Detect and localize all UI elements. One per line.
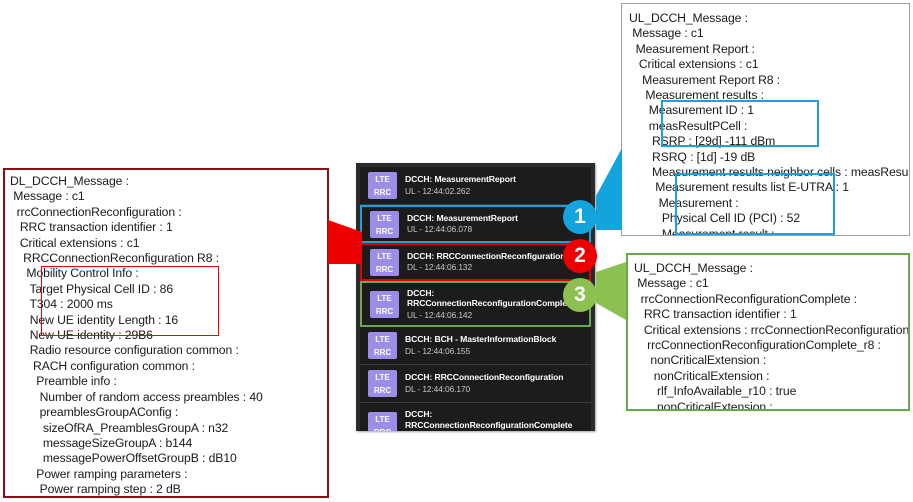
dl-line: DL_DCCH_Message :	[10, 174, 327, 189]
dl-line: Number of random access preambles : 40	[10, 390, 327, 405]
ul-complete-line: nonCriticalExtension :	[634, 353, 908, 368]
ul-meas-line: Physical Cell ID (PCI) : 52	[629, 211, 909, 226]
message-text: DCCH: RRCConnectionReconfigurationComple…	[407, 288, 589, 321]
dl-line: messageSizeGroupA : b144	[10, 436, 327, 451]
ul-meas-line: Measurement result :	[629, 227, 909, 236]
ul-meas-line: Measurement ID : 1	[629, 103, 909, 118]
step-badge-3: 3	[563, 278, 597, 312]
dl-line: Power ramping step : 2 dB	[10, 482, 327, 497]
badge-line-1: LTE	[368, 371, 397, 384]
ul-complete-line: Message : c1	[634, 276, 908, 291]
list-item[interactable]: LTE RRC DCCH: RRCConnectionReconfigurati…	[360, 281, 591, 327]
ul-meas-line: measResultPCell :	[629, 119, 909, 134]
dl-line: Preamble info :	[10, 374, 327, 389]
message-text: DCCH: RRCConnectionReconfiguration DL - …	[405, 372, 591, 395]
message-subtitle: DL - 12:44:06.132	[407, 262, 589, 273]
message-subtitle: UL - 12:44:06.078	[407, 224, 589, 235]
lte-rrc-badge: LTE RRC	[368, 172, 397, 199]
message-subtitle: DL - 12:44:06.170	[405, 384, 591, 395]
ul-complete-line: nonCriticalExtension :	[634, 369, 908, 384]
badge-line-1: LTE	[370, 250, 399, 263]
ul-meas-line: Measurement :	[629, 196, 909, 211]
message-log-panel: LTE RRC DCCH: MeasurementReport UL - 12:…	[356, 163, 595, 431]
message-subtitle: UL - 12:44:02.262	[405, 186, 591, 197]
list-item[interactable]: LTE RRC DCCH: MeasurementReport UL - 12:…	[360, 167, 591, 205]
message-text: DCCH: MeasurementReport UL - 12:44:06.07…	[407, 213, 589, 236]
dl-line: messagePowerOffsetGroupB : dB10	[10, 451, 327, 466]
lte-rrc-badge: LTE RRC	[368, 370, 397, 397]
badge-line-1: LTE	[368, 333, 397, 346]
step-badge-2: 2	[563, 239, 597, 273]
dl-line: Radio resource configuration common :	[10, 343, 327, 358]
step-badge-1: 1	[563, 200, 597, 234]
lte-rrc-badge: LTE RRC	[368, 332, 397, 359]
dl-line: sizeOfRA_PreamblesGroupA : n32	[10, 421, 327, 436]
list-item[interactable]: LTE RRC BCCH: BCH - MasterInformationBlo…	[360, 327, 591, 365]
dl-line: T304 : 2000 ms	[10, 297, 327, 312]
message-title: DCCH: RRCConnectionReconfigurationComple…	[405, 409, 591, 430]
lte-rrc-badge: LTE RRC	[370, 211, 399, 238]
ul-meas-line: Critical extensions : c1	[629, 57, 909, 72]
ul-dcch-reconfiguration-complete-box: UL_DCCH_Message : Message : c1 rrcConnec…	[626, 253, 910, 411]
list-item[interactable]: LTE RRC DCCH: MeasurementReport UL - 12:…	[360, 205, 591, 243]
dl-line: New UE identity : 29B6	[10, 328, 327, 343]
dl-line: Message : c1	[10, 189, 327, 204]
ul-complete-line: Critical extensions : rrcConnectionRecon…	[634, 323, 908, 338]
dl-line: preamblesGroupAConfig :	[10, 405, 327, 420]
lte-rrc-badge: LTE RRC	[370, 291, 399, 318]
dl-line: New UE identity Length : 16	[10, 313, 327, 328]
message-title: DCCH: RRCConnectionReconfiguration	[407, 251, 589, 262]
lte-rrc-badge: LTE RRC	[370, 249, 399, 276]
badge-line-2: RRC	[370, 263, 399, 276]
badge-line-2: RRC	[370, 225, 399, 238]
badge-line-1: LTE	[370, 292, 399, 305]
message-text: DCCH: MeasurementReport UL - 12:44:02.26…	[405, 174, 591, 197]
badge-line-1: LTE	[368, 173, 397, 186]
ul-meas-line: RSRP : [29d] -111 dBm	[629, 134, 909, 149]
badge-line-2: RRC	[368, 346, 397, 359]
dl-line: rrcConnectionReconfiguration :	[10, 205, 327, 220]
badge-line-1: LTE	[368, 413, 397, 426]
dl-line: RACH configuration common :	[10, 359, 327, 374]
dl-line: RRCConnectionReconfiguration R8 :	[10, 251, 327, 266]
ul-meas-line: Measurement Report R8 :	[629, 73, 909, 88]
dl-line: RRC transaction identifier : 1	[10, 220, 327, 235]
ul-meas-line: RSRQ : [1d] -19 dB	[629, 150, 909, 165]
message-title: BCCH: BCH - MasterInformationBlock	[405, 334, 591, 345]
message-title: DCCH: MeasurementReport	[407, 213, 589, 224]
ul-meas-line: Measurement results list E-UTRA : 1	[629, 180, 909, 195]
arrow-green-to-complete-box	[596, 262, 626, 320]
message-title: DCCH: RRCConnectionReconfiguration	[405, 372, 591, 383]
list-item[interactable]: LTE RRC DCCH: RRCConnectionReconfigurati…	[360, 403, 591, 431]
ul-meas-line: Measurement Report :	[629, 42, 909, 57]
badge-line-1: LTE	[370, 212, 399, 225]
ul-meas-line: Measurement results neighbor cells : mea…	[629, 165, 909, 180]
dl-line: Critical extensions : c1	[10, 236, 327, 251]
list-item[interactable]: LTE RRC DCCH: RRCConnectionReconfigurati…	[360, 365, 591, 403]
ul-meas-line: Message : c1	[629, 26, 909, 41]
message-title: DCCH: MeasurementReport	[405, 174, 591, 185]
ul-complete-line: RRC transaction identifier : 1	[634, 307, 908, 322]
message-subtitle: UL - 12:44:06.142	[407, 310, 589, 321]
ul-meas-line: Measurement results :	[629, 88, 909, 103]
message-text: DCCH: RRCConnectionReconfigurationComple…	[405, 409, 591, 431]
dl-line: Power ramping parameters :	[10, 467, 327, 482]
badge-line-2: RRC	[370, 305, 399, 318]
ul-complete-line: rlf_InfoAvailable_r10 : true	[634, 384, 908, 399]
badge-line-2: RRC	[368, 384, 397, 397]
ul-complete-line: rrcConnectionReconfigurationComplete_r8 …	[634, 338, 908, 353]
list-item[interactable]: LTE RRC DCCH: RRCConnectionReconfigurati…	[360, 243, 591, 281]
message-text: DCCH: RRCConnectionReconfiguration DL - …	[407, 251, 589, 274]
message-log-list[interactable]: LTE RRC DCCH: MeasurementReport UL - 12:…	[360, 167, 591, 427]
badge-line-2: RRC	[368, 426, 397, 431]
ul-complete-line: UL_DCCH_Message :	[634, 261, 908, 276]
dl-dcch-message-box: DL_DCCH_Message : Message : c1 rrcConnec…	[3, 168, 329, 498]
arrow-blue-to-measurement-box	[596, 148, 622, 230]
ul-complete-line: nonCriticalExtension :	[634, 400, 908, 411]
ul-meas-line: UL_DCCH_Message :	[629, 11, 909, 26]
message-title: DCCH: RRCConnectionReconfigurationComple…	[407, 288, 589, 309]
ul-complete-line: rrcConnectionReconfigurationComplete :	[634, 292, 908, 307]
dl-line: Mobility Control Info :	[10, 266, 327, 281]
lte-rrc-badge: LTE RRC	[368, 412, 397, 431]
badge-line-2: RRC	[368, 186, 397, 199]
message-text: BCCH: BCH - MasterInformationBlock DL - …	[405, 334, 591, 357]
dl-line: Target Physical Cell ID : 86	[10, 282, 327, 297]
message-subtitle: DL - 12:44:06.155	[405, 346, 591, 357]
ul-dcch-measurement-report-box: UL_DCCH_Message : Message : c1 Measureme…	[621, 3, 910, 236]
